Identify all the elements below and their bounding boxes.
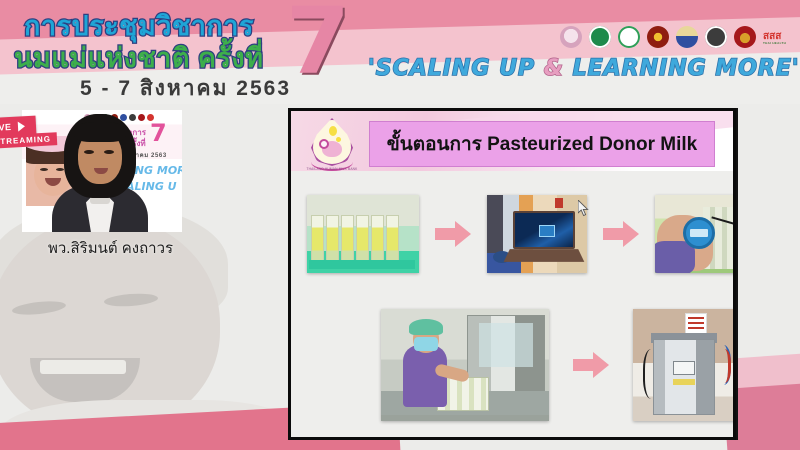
ministry-of-public-health-logo: [589, 26, 611, 48]
thaihealth-logo: สสสTHAI HEALTH: [763, 32, 786, 45]
process-steps-row-top: [307, 195, 736, 273]
presenter-figure: [52, 114, 148, 232]
photo-pasteurizer-machine: [633, 309, 736, 421]
sponsor-logo-strip: สสสTHAI HEALTH: [560, 26, 786, 48]
royal-patronage-logo: [560, 26, 582, 48]
thaihealth-logo-text: สสส: [763, 31, 781, 42]
breastfeeding-foundation-logo: [705, 26, 727, 48]
photo-milk-bottle-racks: [307, 195, 419, 273]
photo-laptop-data-entry: [487, 195, 587, 273]
slide-title: ขั้นตอนการ Pasteurized Donor Milk: [387, 129, 697, 159]
milk-bank-logo-caption: THAILAND HUMAN MILK BANK: [305, 167, 359, 171]
thai-royal-emblem-logo: [647, 26, 669, 48]
photo-hand-thermometer: [655, 195, 736, 273]
conference-tagline: 'SCALING UP & LEARNING MORE': [368, 56, 800, 81]
department-of-health-logo: [618, 26, 640, 48]
process-steps-row-bottom: [381, 309, 736, 421]
tagline-ampersand: &: [544, 56, 564, 81]
watermark-teeth: [40, 360, 126, 374]
conference-edition-number: 7: [286, 0, 350, 88]
slide-title-box: ขั้นตอนการ Pasteurized Donor Milk: [369, 121, 715, 167]
presentation-slide[interactable]: THAILAND HUMAN MILK BANK ขั้นตอนการ Past…: [288, 108, 736, 440]
live-badge-label: LIVE: [0, 122, 11, 133]
live-video-feed[interactable]: การประชุมวิชาการ นมแม่แห่งชาติ ครั้งที่ …: [22, 110, 182, 232]
tagline-prefix: 'SCALING UP: [368, 56, 544, 81]
slide-right-seam: [736, 108, 738, 440]
photo-nurse-loading-bottles: [381, 309, 549, 421]
arrow-2-icon: [603, 221, 639, 247]
national-institute-logo: [676, 26, 698, 48]
screenshot-root: การประชุมวิชาการ นมแม่แห่งชาติ ครั้งที่ …: [0, 0, 800, 450]
mouse-cursor-icon: [578, 200, 590, 217]
speaker-name-caption: พว.สิริมนต์ คงถาวร: [48, 236, 173, 260]
poster-edition-number: 7: [150, 121, 167, 145]
arrow-1-icon: [435, 221, 471, 247]
human-milk-bank-droplet-logo: THAILAND HUMAN MILK BANK: [305, 117, 359, 175]
play-icon: [14, 119, 29, 134]
arrow-3-icon: [573, 352, 609, 378]
royal-crest-red-logo: [734, 26, 756, 48]
conference-date: 5 - 7 สิงหาคม 2563: [80, 72, 291, 104]
conference-header-banner: การประชุมวิชาการ นมแม่แห่งชาติ ครั้งที่ …: [0, 0, 800, 104]
thaihealth-logo-subtext: THAI HEALTH: [763, 42, 786, 45]
tagline-suffix: LEARNING MORE': [564, 56, 800, 81]
